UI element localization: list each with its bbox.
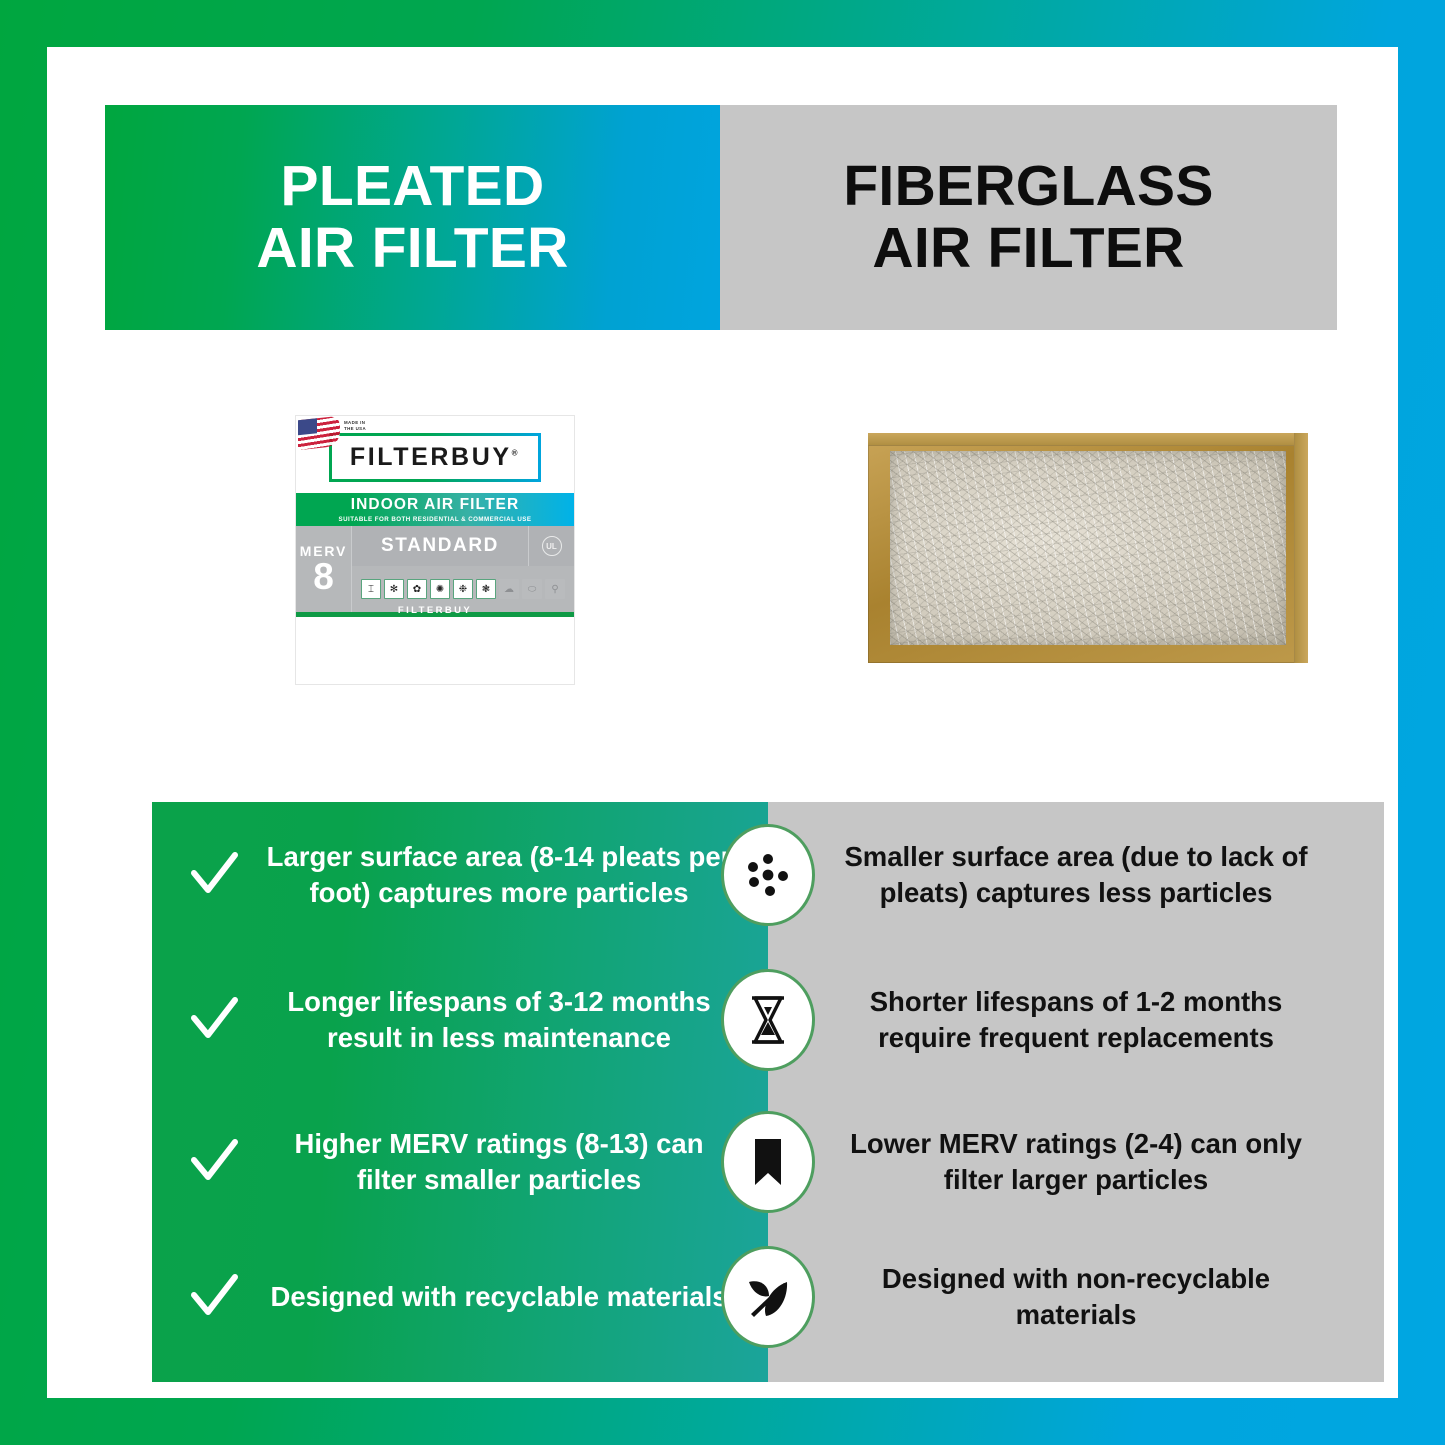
bacteria-icon: ⬭	[522, 579, 542, 599]
particles-glyph	[739, 846, 797, 904]
infographic-canvas: PLEATED AIR FILTER FIBERGLASS AIR FILTER…	[47, 47, 1398, 1398]
row-3-fiberglass-cell: Lower MERV ratings (2-4) can only filter…	[768, 1126, 1384, 1198]
row-4-pleated-text: Designed with recyclable materials	[264, 1279, 734, 1315]
row-4-fiberglass-text: Designed with non-recyclable materials	[841, 1261, 1311, 1333]
row-3-pleated-text: Higher MERV ratings (8-13) can filter sm…	[264, 1126, 734, 1198]
particles-icon	[721, 824, 815, 926]
comparison-row: Higher MERV ratings (8-13) can filter sm…	[152, 1097, 1384, 1227]
row-2-fiberglass-text: Shorter lifespans of 1-2 months require …	[841, 984, 1311, 1056]
bookmark-icon	[721, 1111, 815, 1213]
box-grade-block: STANDARD UL ⌶ ✻ ✿ ✺ ❉ ❃ ☁	[352, 526, 574, 612]
comparison-row: Designed with recyclable materials Desig…	[152, 1232, 1384, 1362]
checkmark-icon	[186, 1269, 242, 1325]
product-images-row: MADE IN THE USA FILTERBUY® INDOOR AIR FI…	[105, 330, 1337, 750]
comparison-rows: Larger surface area (8-14 pleats per foo…	[152, 802, 1384, 1382]
box-product-band: INDOOR AIR FILTER SUITABLE FOR BOTH RESI…	[296, 493, 574, 526]
checkmark-icon	[186, 992, 242, 1048]
header-pleated-line1: PLEATED	[256, 156, 568, 218]
comparison-grid: Larger surface area (8-14 pleats per foo…	[152, 802, 1384, 1382]
merv-rating-block: MERV 8	[296, 526, 352, 612]
row-2-pleated-cell: Longer lifespans of 3-12 months result i…	[152, 984, 768, 1056]
row-1-pleated-cell: Larger surface area (8-14 pleats per foo…	[152, 839, 768, 911]
pet-dander-icon: ❃	[476, 579, 496, 599]
row-4-fiberglass-cell: Designed with non-recyclable materials	[768, 1261, 1384, 1333]
row-2-pleated-text: Longer lifespans of 3-12 months result i…	[264, 984, 734, 1056]
leaf-icon	[721, 1246, 815, 1348]
outer-gradient-frame: PLEATED AIR FILTER FIBERGLASS AIR FILTER…	[0, 0, 1445, 1445]
fiberglass-frame-right-lip	[1294, 433, 1308, 663]
box-brand-header: MADE IN THE USA FILTERBUY®	[296, 416, 574, 493]
hourglass-glyph	[739, 991, 797, 1049]
ul-certification-mark: UL	[528, 526, 574, 566]
fiberglass-media-texture	[890, 451, 1286, 645]
box-footer-brand: FILTERBUY	[296, 605, 574, 616]
box-band-title: INDOOR AIR FILTER	[351, 496, 520, 514]
virus-icon: ⚲	[545, 579, 565, 599]
box-band-subtitle: SUITABLE FOR BOTH RESIDENTIAL & COMMERCI…	[339, 516, 532, 523]
smoke-icon: ☁	[499, 579, 519, 599]
mold-icon: ✺	[430, 579, 450, 599]
dust-icon: ❉	[453, 579, 473, 599]
header-pleated: PLEATED AIR FILTER	[105, 105, 720, 330]
header-pleated-title: PLEATED AIR FILTER	[256, 156, 568, 279]
pleated-filter-box-image: MADE IN THE USA FILTERBUY® INDOOR AIR FI…	[295, 415, 575, 685]
row-1-fiberglass-cell: Smaller surface area (due to lack of ple…	[768, 839, 1384, 911]
header-fiberglass-line2: AIR FILTER	[843, 218, 1213, 280]
row-1-fiberglass-text: Smaller surface area (due to lack of ple…	[841, 839, 1311, 911]
made-in-line2: THE USA	[344, 426, 366, 432]
leaf-glyph	[739, 1268, 797, 1326]
row-2-fiberglass-cell: Shorter lifespans of 1-2 months require …	[768, 984, 1384, 1056]
made-in-usa-label: MADE IN THE USA	[344, 420, 366, 433]
header-fiberglass-title: FIBERGLASS AIR FILTER	[843, 156, 1213, 279]
header-band: PLEATED AIR FILTER FIBERGLASS AIR FILTER	[105, 105, 1337, 330]
filterbuy-logo-text: FILTERBUY®	[350, 443, 520, 472]
box-filter-media-photo: FILTERBUY	[296, 612, 574, 617]
checkmark-icon	[186, 847, 242, 903]
hourglass-icon	[721, 969, 815, 1071]
row-4-pleated-cell: Designed with recyclable materials	[152, 1269, 768, 1325]
header-pleated-line2: AIR FILTER	[256, 218, 568, 280]
row-3-pleated-cell: Higher MERV ratings (8-13) can filter sm…	[152, 1126, 768, 1198]
merv-value: 8	[313, 559, 334, 594]
ul-circle-icon: UL	[542, 536, 562, 556]
comparison-row: Longer lifespans of 3-12 months result i…	[152, 950, 1384, 1090]
fiberglass-filter-image	[868, 433, 1308, 663]
fiberglass-frame-top-lip	[868, 433, 1308, 446]
comparison-row: Larger surface area (8-14 pleats per foo…	[152, 802, 1384, 947]
header-fiberglass-line1: FIBERGLASS	[843, 156, 1213, 218]
checkmark-icon	[186, 1134, 242, 1190]
box-grade-row: STANDARD UL	[352, 526, 574, 566]
lint-icon: ⌶	[361, 579, 381, 599]
dust-mite-icon: ✻	[384, 579, 404, 599]
pollen-icon: ✿	[407, 579, 427, 599]
box-spec-panel: MERV 8 STANDARD UL ⌶ ✻ ✿	[296, 526, 574, 612]
box-grade-name: STANDARD	[352, 535, 528, 557]
row-1-pleated-text: Larger surface area (8-14 pleats per foo…	[264, 839, 734, 911]
header-fiberglass: FIBERGLASS AIR FILTER	[720, 105, 1337, 330]
bookmark-glyph	[739, 1133, 797, 1191]
row-3-fiberglass-text: Lower MERV ratings (2-4) can only filter…	[841, 1126, 1311, 1198]
filterbuy-logo: FILTERBUY®	[329, 433, 541, 482]
